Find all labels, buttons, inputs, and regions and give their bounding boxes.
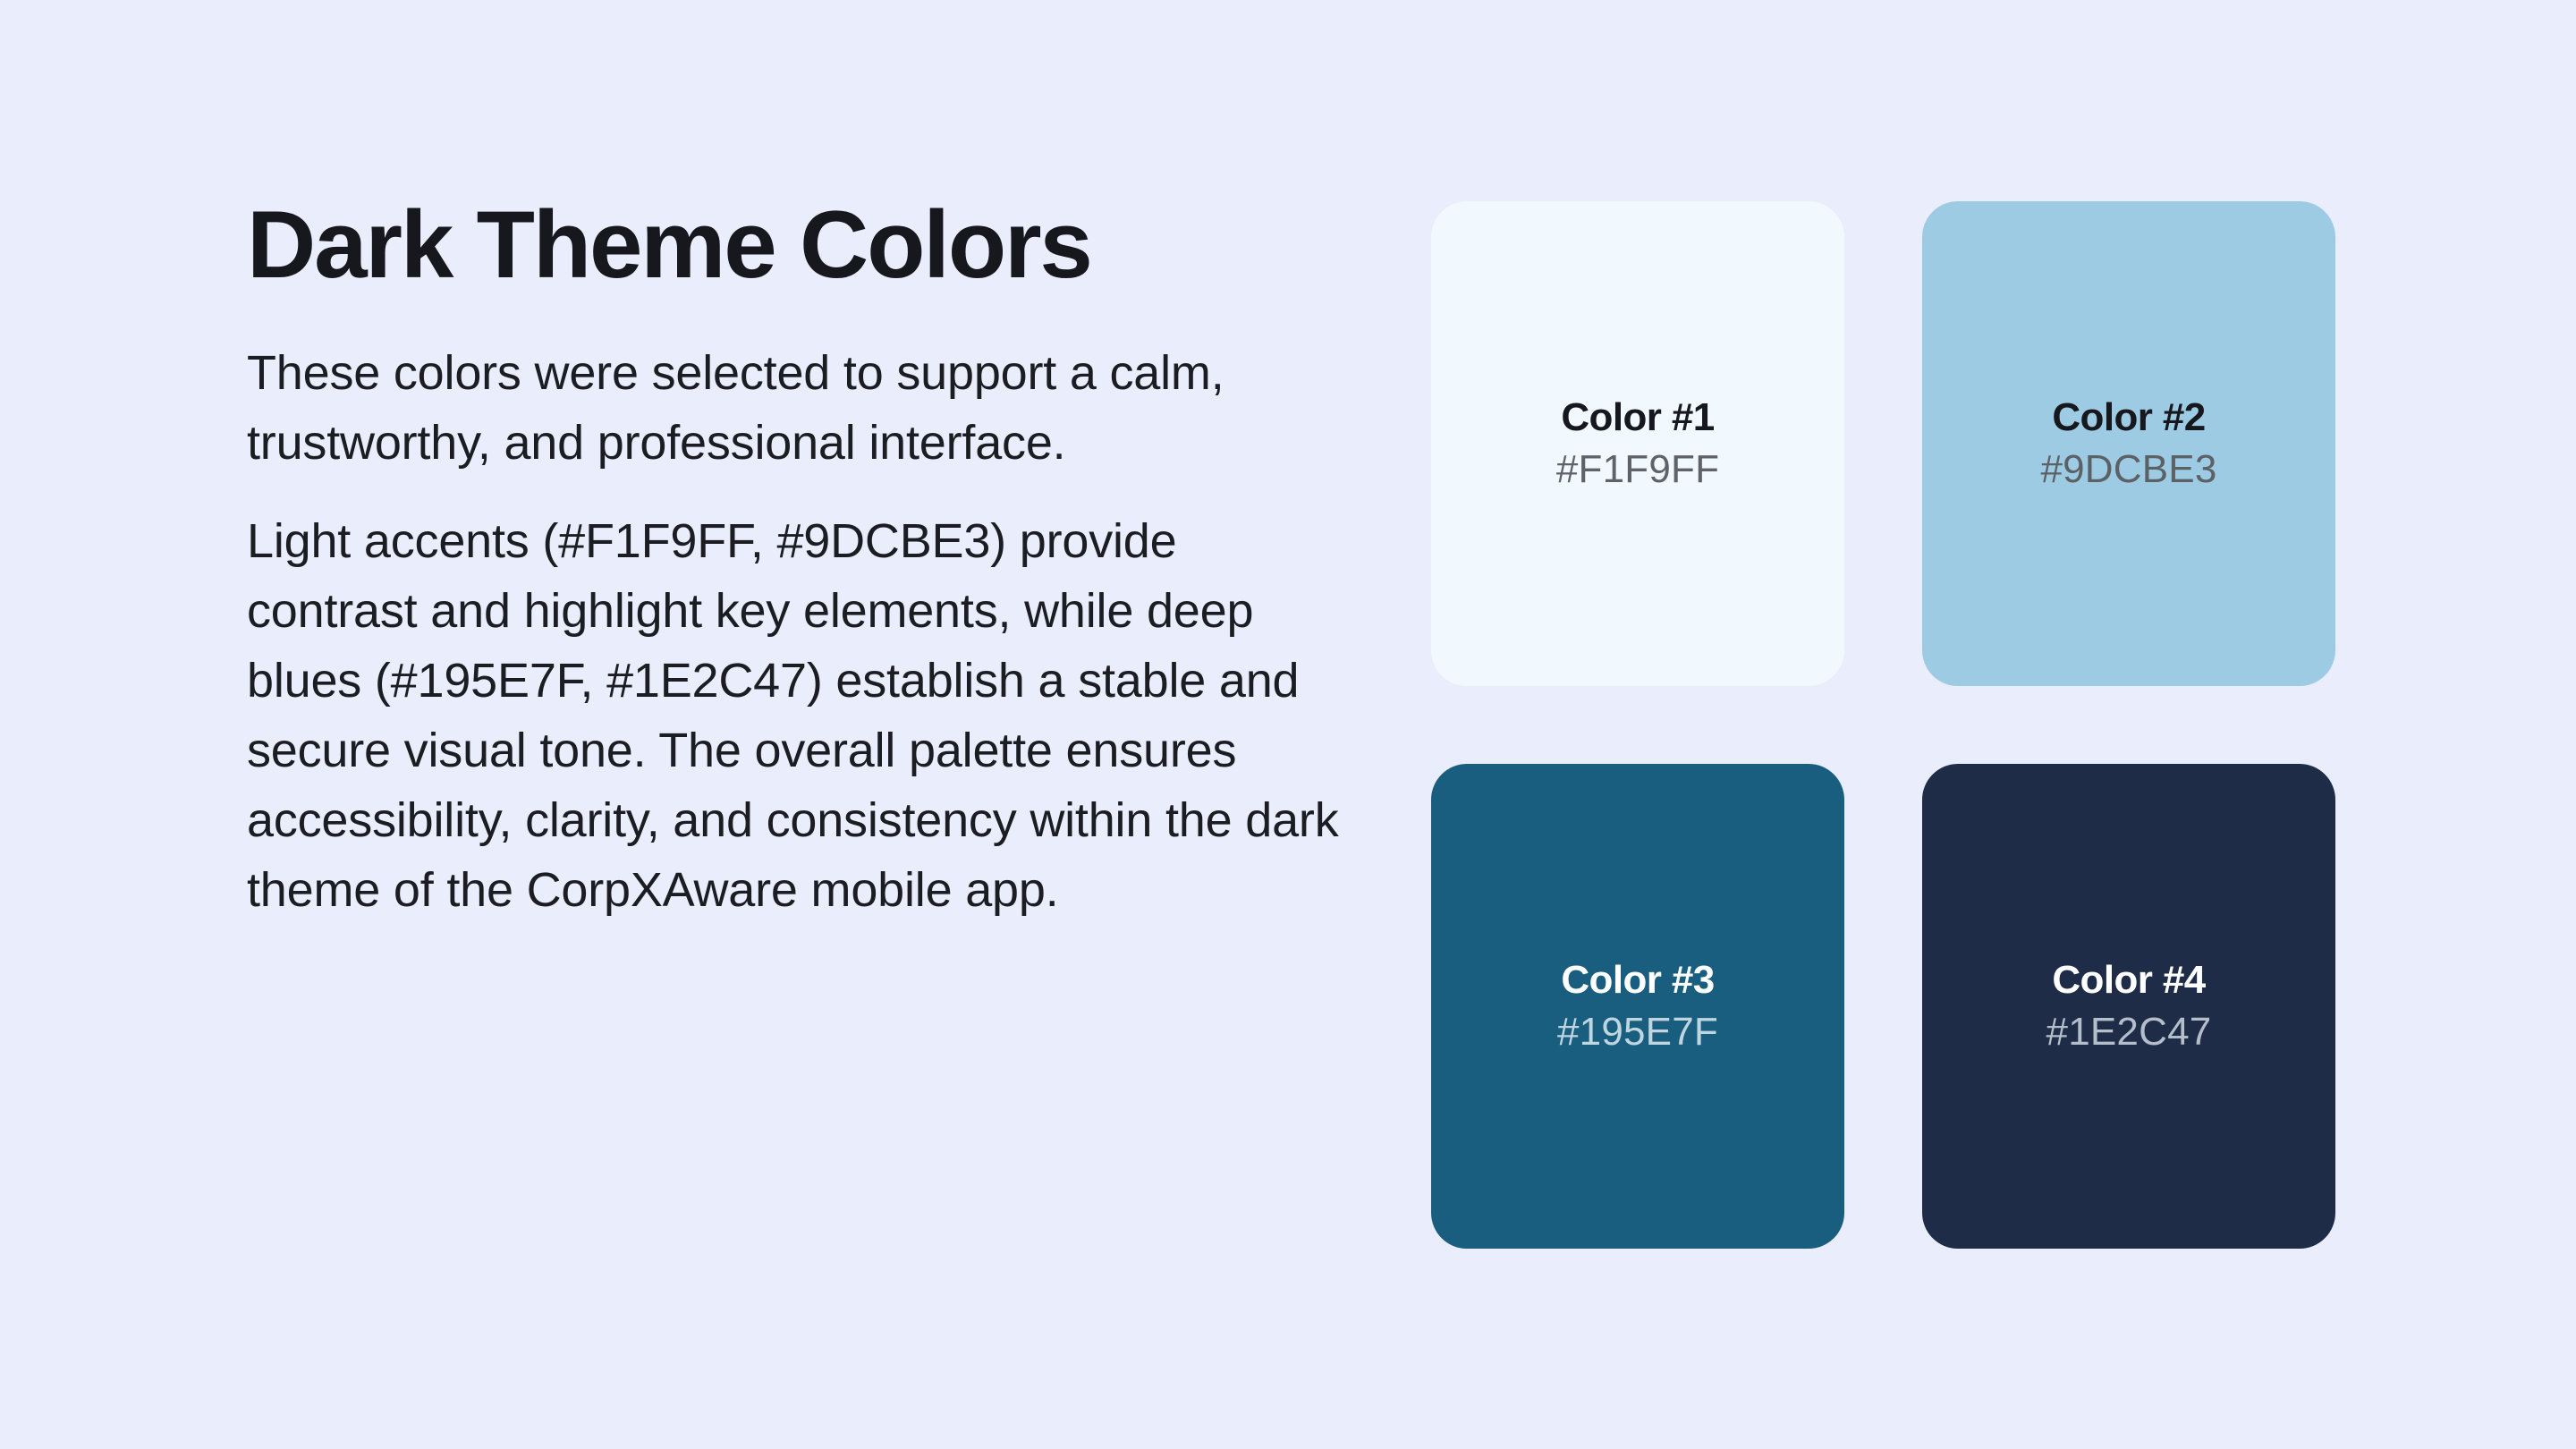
color-swatch-hex-3: #195E7F [1557,1011,1718,1054]
color-swatch-hex-4: #1E2C47 [2046,1011,2212,1054]
color-swatch-card-3[interactable]: Color #3 #195E7F [1431,764,1844,1249]
color-swatch-hex-1: #F1F9FF [1556,448,1719,491]
color-swatch-card-1[interactable]: Color #1 #F1F9FF [1431,201,1844,686]
page-title: Dark Theme Colors [247,193,1347,297]
description-paragraph-2: Light accents (#F1F9FF, #9DCBE3) provide… [247,506,1347,925]
text-column: Dark Theme Colors These colors were sele… [247,193,1347,925]
color-swatch-card-2[interactable]: Color #2 #9DCBE3 [1922,201,2335,686]
color-swatch-grid: Color #1 #F1F9FF Color #2 #9DCBE3 Color … [1431,201,2335,1249]
color-swatch-name-2: Color #2 [2052,396,2205,439]
color-swatch-card-4[interactable]: Color #4 #1E2C47 [1922,764,2335,1249]
description-paragraph-1: These colors were selected to support a … [247,338,1347,478]
color-swatch-name-1: Color #1 [1561,396,1714,439]
slide-canvas: Dark Theme Colors These colors were sele… [0,0,2576,1449]
color-swatch-name-4: Color #4 [2052,959,2205,1002]
color-swatch-name-3: Color #3 [1561,959,1714,1002]
color-swatch-hex-2: #9DCBE3 [2040,448,2216,491]
